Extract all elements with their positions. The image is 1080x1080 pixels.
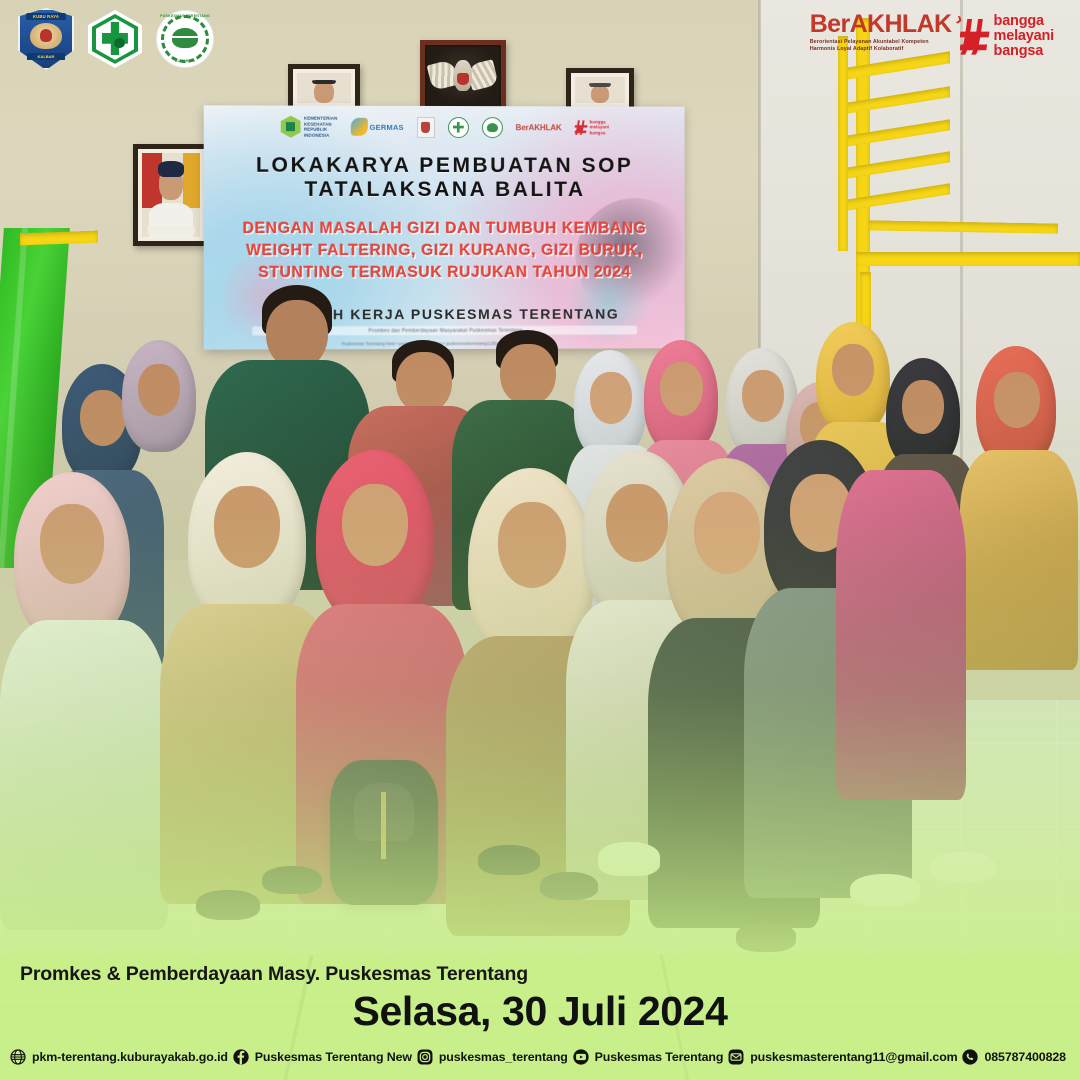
backpack [330,760,438,905]
contact-instagram-label: puskesmas_terentang [439,1050,568,1064]
contact-instagram[interactable]: puskesmas_terentang [417,1049,568,1065]
contact-email-label: puskesmasterentang11@gmail.com [750,1050,957,1064]
berakhlak-values-text: Berorientasi Pelayanan Akuntabel Kompete… [810,39,952,54]
group-photo: KEMENTERIAN KESEHATAN REPUBLIK INDONESIA… [0,0,1080,1080]
berakhlak-wordmark: BerAKHLAK [810,12,952,37]
sandal [196,890,260,920]
kubu-raya-crest-bottom-text: KALBAR [27,53,65,60]
hashtag-icon [960,19,990,55]
kubu-raya-regency-crest: KUBU RAYA KALBAR [18,8,74,70]
contact-facebook[interactable]: Puskesmas Terentang New [233,1049,412,1065]
terentang-logo-ring-bottom: KUBU RAYA [157,59,213,63]
kubu-raya-crest-top-text: KUBU RAYA [26,13,66,20]
sandal [930,852,996,882]
top-logo-row: KUBU RAYA KALBAR PUSKESMAS TERENTANG KUB… [18,8,214,70]
contact-youtube-label: Puskesmas Terentang [595,1050,724,1064]
group-of-people [0,0,1080,1080]
contact-phone[interactable]: 085787400828 [962,1049,1066,1065]
organization-label: Promkes & Pemberdayaan Masy. Puskesmas T… [20,963,528,986]
contact-website-label: pkm-terentang.kuburayakab.go.id [32,1050,228,1064]
facebook-icon [233,1049,249,1065]
puskesmas-terentang-logo: PUSKESMAS TERENTANG KUBU RAYA [156,10,214,68]
bangga-melayani-bangsa-lockup: bangga melayani bangsa [960,14,1054,59]
whatsapp-icon [962,1049,978,1065]
sandal [598,842,660,876]
sandal [736,922,796,952]
contact-youtube[interactable]: Puskesmas Terentang [573,1049,724,1065]
contact-phone-label: 085787400828 [984,1050,1066,1064]
globe-icon [10,1049,26,1065]
sandal [540,872,598,900]
contact-website[interactable]: pkm-terentang.kuburayakab.go.id [10,1049,228,1065]
youtube-icon [573,1049,589,1065]
bangga-melayani-bangsa-text: bangga melayani bangsa [994,14,1054,59]
berakhlak-lockup: BerAKHLAK › Berorientasi Pelayanan Akunt… [810,12,952,54]
contact-bar: pkm-terentang.kuburayakab.go.id Puskesma… [0,1049,1080,1065]
contact-facebook-label: Puskesmas Terentang New [255,1050,412,1064]
sandal [262,866,322,894]
event-date: Selasa, 30 Juli 2024 [0,988,1080,1035]
instagram-icon [417,1049,433,1065]
terentang-logo-ring-top: PUSKESMAS TERENTANG [157,14,213,18]
sandal [478,845,540,875]
sandal [850,874,920,906]
contact-email[interactable]: puskesmasterentang11@gmail.com [728,1049,957,1065]
puskesmas-green-cross-logo [88,10,142,68]
event-poster: KEMENTERIAN KESEHATAN REPUBLIK INDONESIA… [0,0,1080,1080]
email-icon [728,1049,744,1065]
berakhlak-branding: BerAKHLAK › Berorientasi Pelayanan Akunt… [810,12,1054,59]
